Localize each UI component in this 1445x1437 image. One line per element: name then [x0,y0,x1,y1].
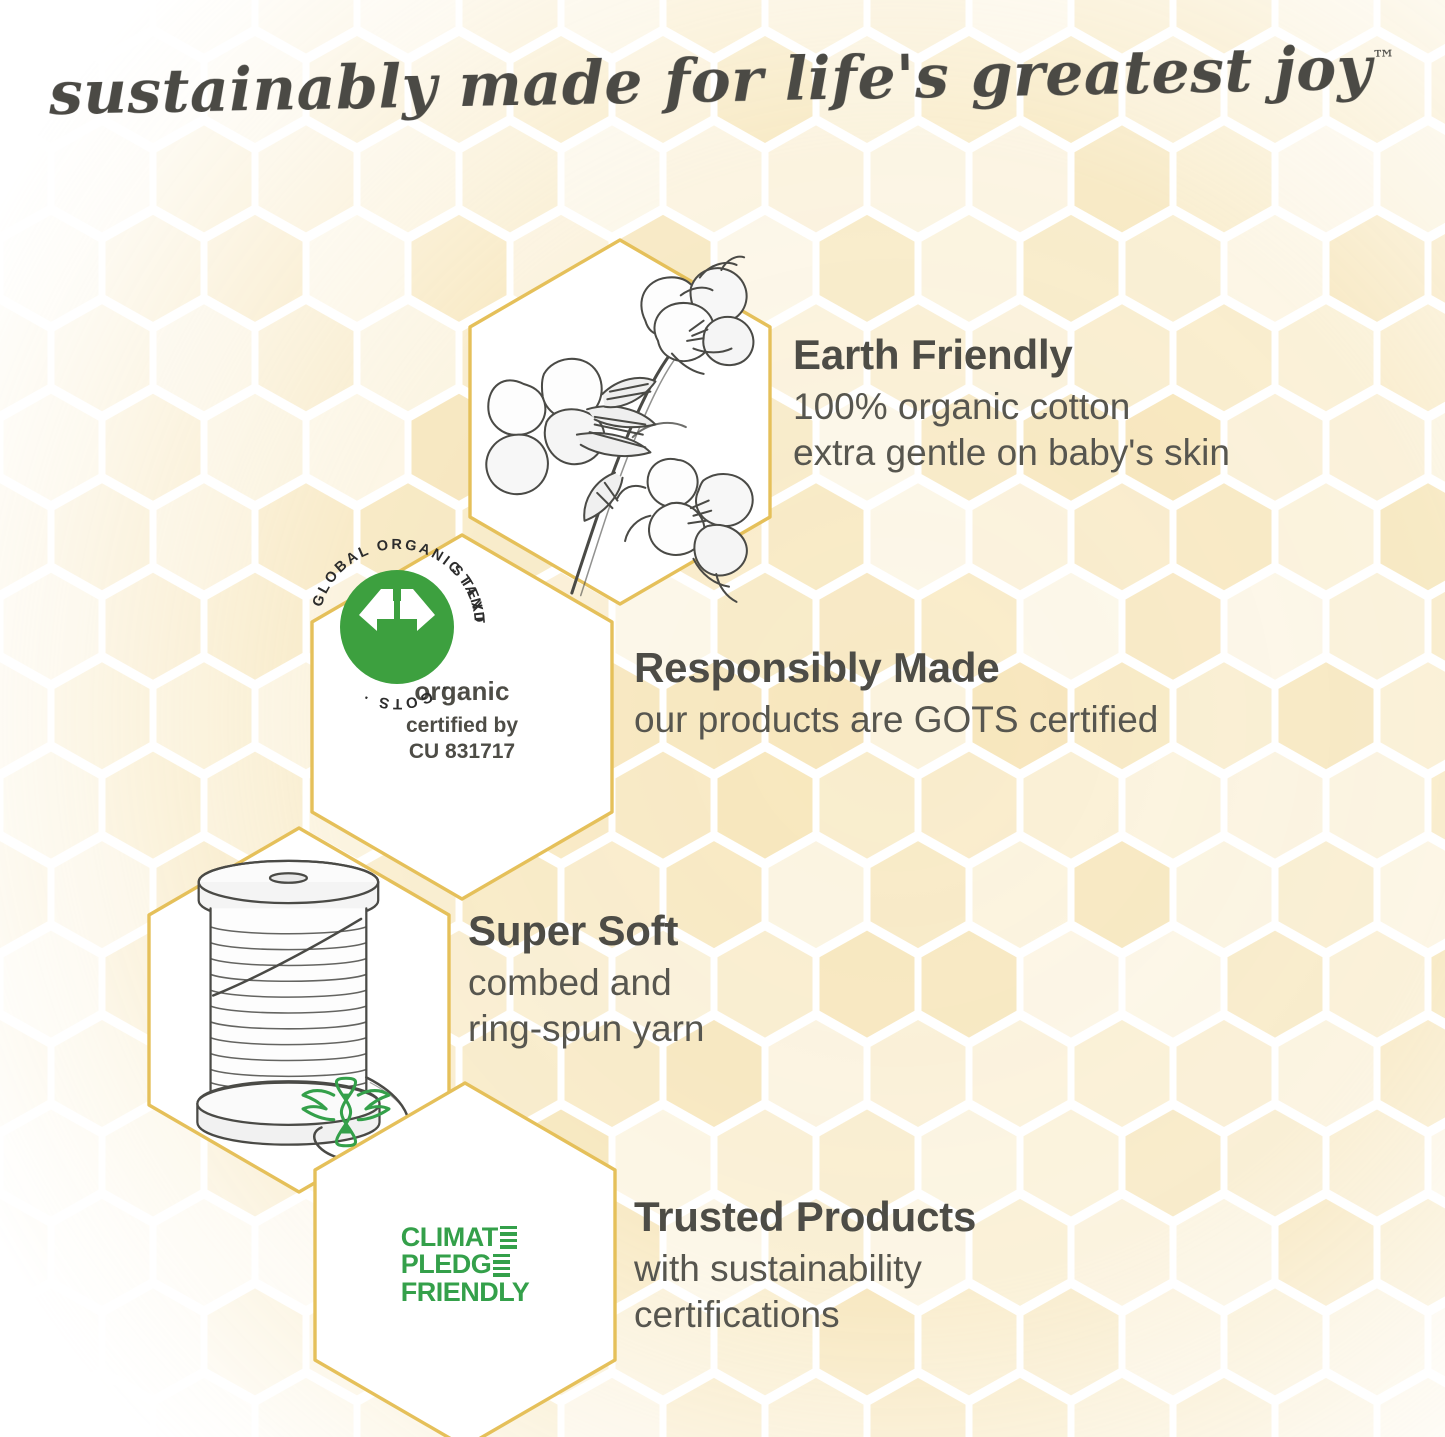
climate-pledge-friendly-icon: CLIMAT PLEDG FRIENDLY [401,1224,530,1307]
feature-line: 100% organic cotton [793,384,1230,430]
feature-title: Trusted Products [634,1194,976,1240]
cpf-bars-icon [493,1254,510,1277]
feature-copy-responsibly-made: Responsibly Made our products are GOTS c… [634,645,1158,743]
cpf-bars-icon [500,1226,517,1249]
feature-line: our products are GOTS certified [634,697,1158,743]
feature-title: Super Soft [468,908,705,954]
climate-pledge-wordmark: CLIMAT PLEDG FRIENDLY [401,1224,530,1307]
winged-hourglass-icon [300,1075,392,1149]
feature-copy-super-soft: Super Soft combed and ring-spun yarn [468,908,705,1053]
trademark-symbol: ™ [1372,45,1397,73]
feature-line: extra gentle on baby's skin [793,430,1230,476]
svg-text:· GOTS ·: · GOTS · [358,679,451,712]
feature-line: ring-spun yarn [468,1006,705,1052]
feature-line: certifications [634,1292,976,1338]
hex-card-climate-pledge: CLIMAT PLEDG FRIENDLY [300,1075,630,1437]
feature-title: Responsibly Made [634,645,1158,691]
feature-line: with sustainability [634,1246,976,1292]
cpf-word-climate: CLIMAT [401,1224,498,1252]
feature-copy-earth-friendly: Earth Friendly 100% organic cotton extra… [793,332,1230,477]
cpf-word-pledge: PLEDG [401,1251,492,1279]
gots-organic-seal-icon: GLOBAL ORGANIC TEXTILE STANDARD · GOTS ·… [406,670,518,764]
promo-canvas: sustainably made for life's greatest joy… [0,0,1445,1437]
feature-line: combed and [468,960,705,1006]
cpf-word-friendly: FRIENDLY [401,1279,530,1307]
feature-title: Earth Friendly [793,332,1230,378]
feature-copy-trusted-products: Trusted Products with sustainability cer… [634,1194,976,1339]
